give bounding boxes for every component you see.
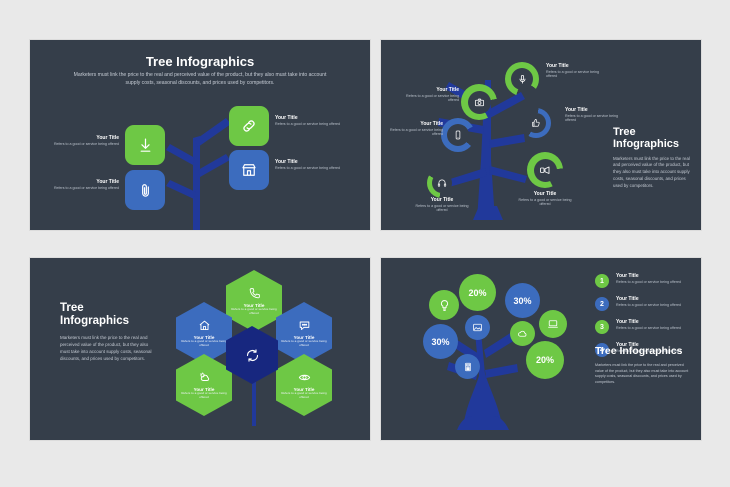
legend-subtitle-2: Refers to a good or service being offere… [616,303,681,308]
slide2-label-1: Your Title Refers to a good or service b… [546,64,606,79]
tree-trunk-slide1 [30,40,370,230]
slide2-label-4: Your Title Refers to a good or service b… [565,108,625,123]
slide1-label-4-subtitle: Refers to a good or service being offere… [275,166,341,171]
slide3-hex-weather-subtitle: Refers to a good or service being offere… [181,392,227,400]
slide2-label-6-subtitle: Refers to a good or service being offere… [515,198,575,207]
legend-row[interactable]: 2 Your Title Refers to a good or service… [595,297,695,311]
slide4-bubble-lightbulb[interactable] [429,290,459,320]
slide-4[interactable]: 20% 30% [381,258,701,440]
image-icon [472,322,483,333]
paperclip-icon [137,182,154,199]
slide1-label-2: Your Title Refers to a good or service b… [53,180,119,190]
slide3-hex-home-subtitle: Refers to a good or service being offere… [181,340,227,348]
slide1-label-1: Your Title Refers to a good or service b… [53,136,119,146]
refresh-icon [245,348,260,363]
slide3-hex-phone[interactable]: Your Title Refers to a good or service b… [226,270,282,332]
home-icon [198,319,211,332]
projector-icon [539,164,551,176]
slide2-label-6: Your Title Refers to a good or service b… [515,192,575,207]
infographic-deck-page: Tree Infographics Marketers must link th… [0,0,730,487]
slide2-node-camera[interactable] [461,84,497,120]
legend-number-2: 2 [595,297,609,311]
lightbulb-icon [438,299,451,312]
slide4-bubble-30a[interactable]: 30% [505,283,540,318]
camera-icon [474,97,485,108]
slide4-text-block: Tree Infographics Marketers must link th… [595,346,691,386]
slide2-node-projector[interactable] [527,152,563,188]
slide4-bubble-20b[interactable]: 20% [526,341,564,379]
slide4-bubble-cloud[interactable] [510,321,535,346]
slide2-text-block: Tree Infographics Marketers must link th… [613,126,691,190]
store-icon [240,161,258,179]
laptop-icon [547,318,559,330]
slide3-hex-eye-subtitle: Refers to a good or service being offere… [281,392,327,400]
slide2-heading: Tree Infographics [613,126,691,151]
slide-3[interactable]: Tree Infographics Marketers must link th… [30,258,370,440]
legend-subtitle-3: Refers to a good or service being offere… [616,326,681,331]
slide2-label-5-subtitle: Refers to a good or service being offere… [412,204,472,213]
slide3-hex-eye[interactable]: Your Title Refers to a good or service b… [276,354,332,416]
slide4-bubble-20a-value: 20% [468,288,486,298]
slide-2[interactable]: Your Title Refers to a good or service b… [381,40,701,230]
headphones-icon [437,178,447,188]
slide2-label-1-subtitle: Refers to a good or service being offere… [546,70,606,79]
slide4-bubble-20b-value: 20% [536,355,554,365]
slide3-hex-weather[interactable]: Your Title Refers to a good or service b… [176,354,232,416]
eye-icon [298,371,311,384]
slide2-node-thumbsup[interactable] [521,108,551,138]
slide2-label-3-subtitle: Refers to a good or service being offere… [383,128,443,137]
slide2-label-2-subtitle: Refers to a good or service being offere… [399,94,459,103]
slide4-bubble-image[interactable] [465,315,490,340]
slide-1[interactable]: Tree Infographics Marketers must link th… [30,40,370,230]
weather-icon [198,371,211,384]
smartphone-icon [453,130,463,140]
slide2-node-smartphone[interactable] [441,118,475,152]
slide2-label-4-subtitle: Refers to a good or service being offere… [565,114,625,123]
slide2-node-headphones[interactable] [427,168,457,198]
slide1-card-download[interactable] [125,125,165,165]
slide4-bubble-laptop[interactable] [539,310,567,338]
slide1-card-paperclip[interactable] [125,170,165,210]
slide4-paragraph: Marketers must link the price to the rea… [595,363,691,386]
slide1-card-store[interactable] [229,150,269,190]
legend-row[interactable]: 1 Your Title Refers to a good or service… [595,274,695,288]
slide2-label-5: Your Title Refers to a good or service b… [412,198,472,213]
slide1-label-2-subtitle: Refers to a good or service being offere… [53,186,119,191]
slide1-label-3: Your Title Refers to a good or service b… [275,116,341,126]
slide2-paragraph: Marketers must link the price to the rea… [613,156,691,190]
slide4-bubble-calculator[interactable] [455,354,480,379]
chat-icon [298,319,311,332]
microphone-icon [517,74,528,85]
slide4-bubble-20a[interactable]: 20% [459,274,496,311]
slide3-hex-center[interactable] [226,326,278,384]
slide4-bubble-30b[interactable]: 30% [423,324,458,359]
legend-number-3: 3 [595,320,609,334]
legend-row[interactable]: 3 Your Title Refers to a good or service… [595,320,695,334]
slide1-label-1-subtitle: Refers to a good or service being offere… [53,142,119,147]
download-icon [137,137,154,154]
slide3-hex-phone-subtitle: Refers to a good or service being offere… [231,308,277,316]
calculator-icon [463,362,473,372]
phone-icon [248,287,261,300]
slide1-label-3-subtitle: Refers to a good or service being offere… [275,122,341,127]
legend-number-1: 1 [595,274,609,288]
slide4-bubble-30b-value: 30% [431,337,449,347]
slide4-bubble-30a-value: 30% [513,296,531,306]
slide1-card-link[interactable] [229,106,269,146]
link-icon [240,117,258,135]
slide3-hex-chat-subtitle: Refers to a good or service being offere… [281,340,327,348]
thumbs-up-icon [531,118,541,128]
slide2-label-3: Your Title Refers to a good or service b… [383,122,443,137]
slide4-heading: Tree Infographics [595,346,691,358]
slide2-node-microphone[interactable] [505,62,539,96]
legend-subtitle-1: Refers to a good or service being offere… [616,280,681,285]
slide1-label-4: Your Title Refers to a good or service b… [275,160,341,170]
slide2-label-2: Your Title Refers to a good or service b… [399,88,459,103]
cloud-icon [517,328,528,339]
